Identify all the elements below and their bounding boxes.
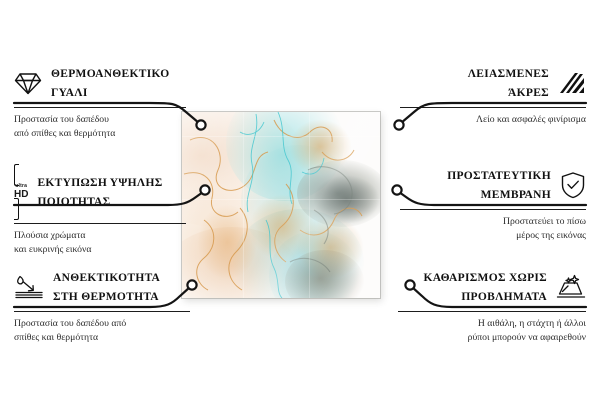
feature-title: ΠΡΟΣΤΑΤΕΥΤΙΚΗ ΜΕΜΒΡΑΝΗ — [447, 166, 551, 204]
feature-heat-resistant-glass: ΘΕΡΜΟΑΝΘΕΚΤΙΚΟ ΓΥΑΛΙ Προστασία του δαπέδ… — [14, 64, 186, 140]
divider — [400, 107, 586, 108]
feature-heat-resistance: ΑΝΘΕΚΤΙΚΟΤΗΤΑ ΣΤΗ ΘΕΡΜΟΤΗΤΑ Προστασία το… — [14, 268, 190, 344]
infographic-canvas: ΘΕΡΜΟΑΝΘΕΚΤΙΚΟ ΓΥΑΛΙ Προστασία του δαπέδ… — [0, 0, 600, 400]
feature-description: Λείο και ασφαλές φινίρισμα — [400, 113, 586, 127]
heat-resistance-icon — [14, 273, 44, 301]
feature-description: Προστασία του δαπέδου από σπίθες και θερ… — [14, 113, 186, 141]
divider — [398, 311, 586, 312]
shield-check-icon — [560, 171, 586, 199]
feature-title: ΑΝΘΕΚΤΙΚΟΤΗΤΑ ΣΤΗ ΘΕΡΜΟΤΗΤΑ — [53, 268, 160, 306]
polished-edges-icon — [558, 70, 586, 96]
feature-title: ΛΕΙΑΣΜΕΝΕΣ ΆΚΡΕΣ — [468, 64, 549, 102]
divider — [14, 223, 186, 224]
divider — [14, 107, 186, 108]
feature-description: Η αιθάλη, η στάχτη ή άλλοι ρύποι μπορούν… — [398, 317, 586, 345]
feature-protective-membrane: ΠΡΟΣΤΑΤΕΥΤΙΚΗ ΜΕΜΒΡΑΝΗ Προστατεύει το πί… — [400, 166, 586, 242]
feature-title: ΘΕΡΜΟΑΝΘΕΚΤΙΚΟ ΓΥΑΛΙ — [51, 64, 170, 102]
ink-veins — [182, 112, 380, 298]
product-image — [180, 110, 410, 300]
divider — [14, 311, 190, 312]
feature-title: ΕΚΤΥΠΩΣΗ ΥΨΗΛΗΣ ΠΟΙΟΤΗΤΑΣ — [37, 173, 162, 211]
marble-artwork — [182, 112, 380, 298]
feature-title: ΚΑΘΑΡΙΣΜΟΣ ΧΩΡΙΣ ΠΡΟΒΛΗΜΑΤΑ — [423, 268, 547, 306]
feature-easy-cleaning: ΚΑΘΑΡΙΣΜΟΣ ΧΩΡΙΣ ΠΡΟΒΛΗΜΑΤΑ Η αιθάλη, η … — [398, 268, 586, 344]
feature-description: Προστατεύει το πίσω μέρος της εικόνας — [400, 215, 586, 243]
glass-panel — [182, 112, 380, 298]
feature-description: Πλούσια χρώματα και ευκρινής εικόνα — [14, 229, 186, 257]
feature-description: Προστασία του δαπέδου από σπίθες και θερ… — [14, 317, 190, 345]
feature-high-quality-print: ultra HD ΕΚΤΥΠΩΣΗ ΥΨΗΛΗΣ ΠΟΙΟΤΗΤΑΣ Πλούσ… — [14, 166, 186, 257]
easy-clean-icon — [556, 273, 586, 301]
feature-polished-edges: ΛΕΙΑΣΜΕΝΕΣ ΆΚΡΕΣ Λείο και ασφαλές φινίρι… — [400, 64, 586, 127]
diamond-icon — [14, 70, 42, 96]
divider — [400, 209, 586, 210]
ultra-hd-icon: ultra HD — [14, 166, 28, 218]
